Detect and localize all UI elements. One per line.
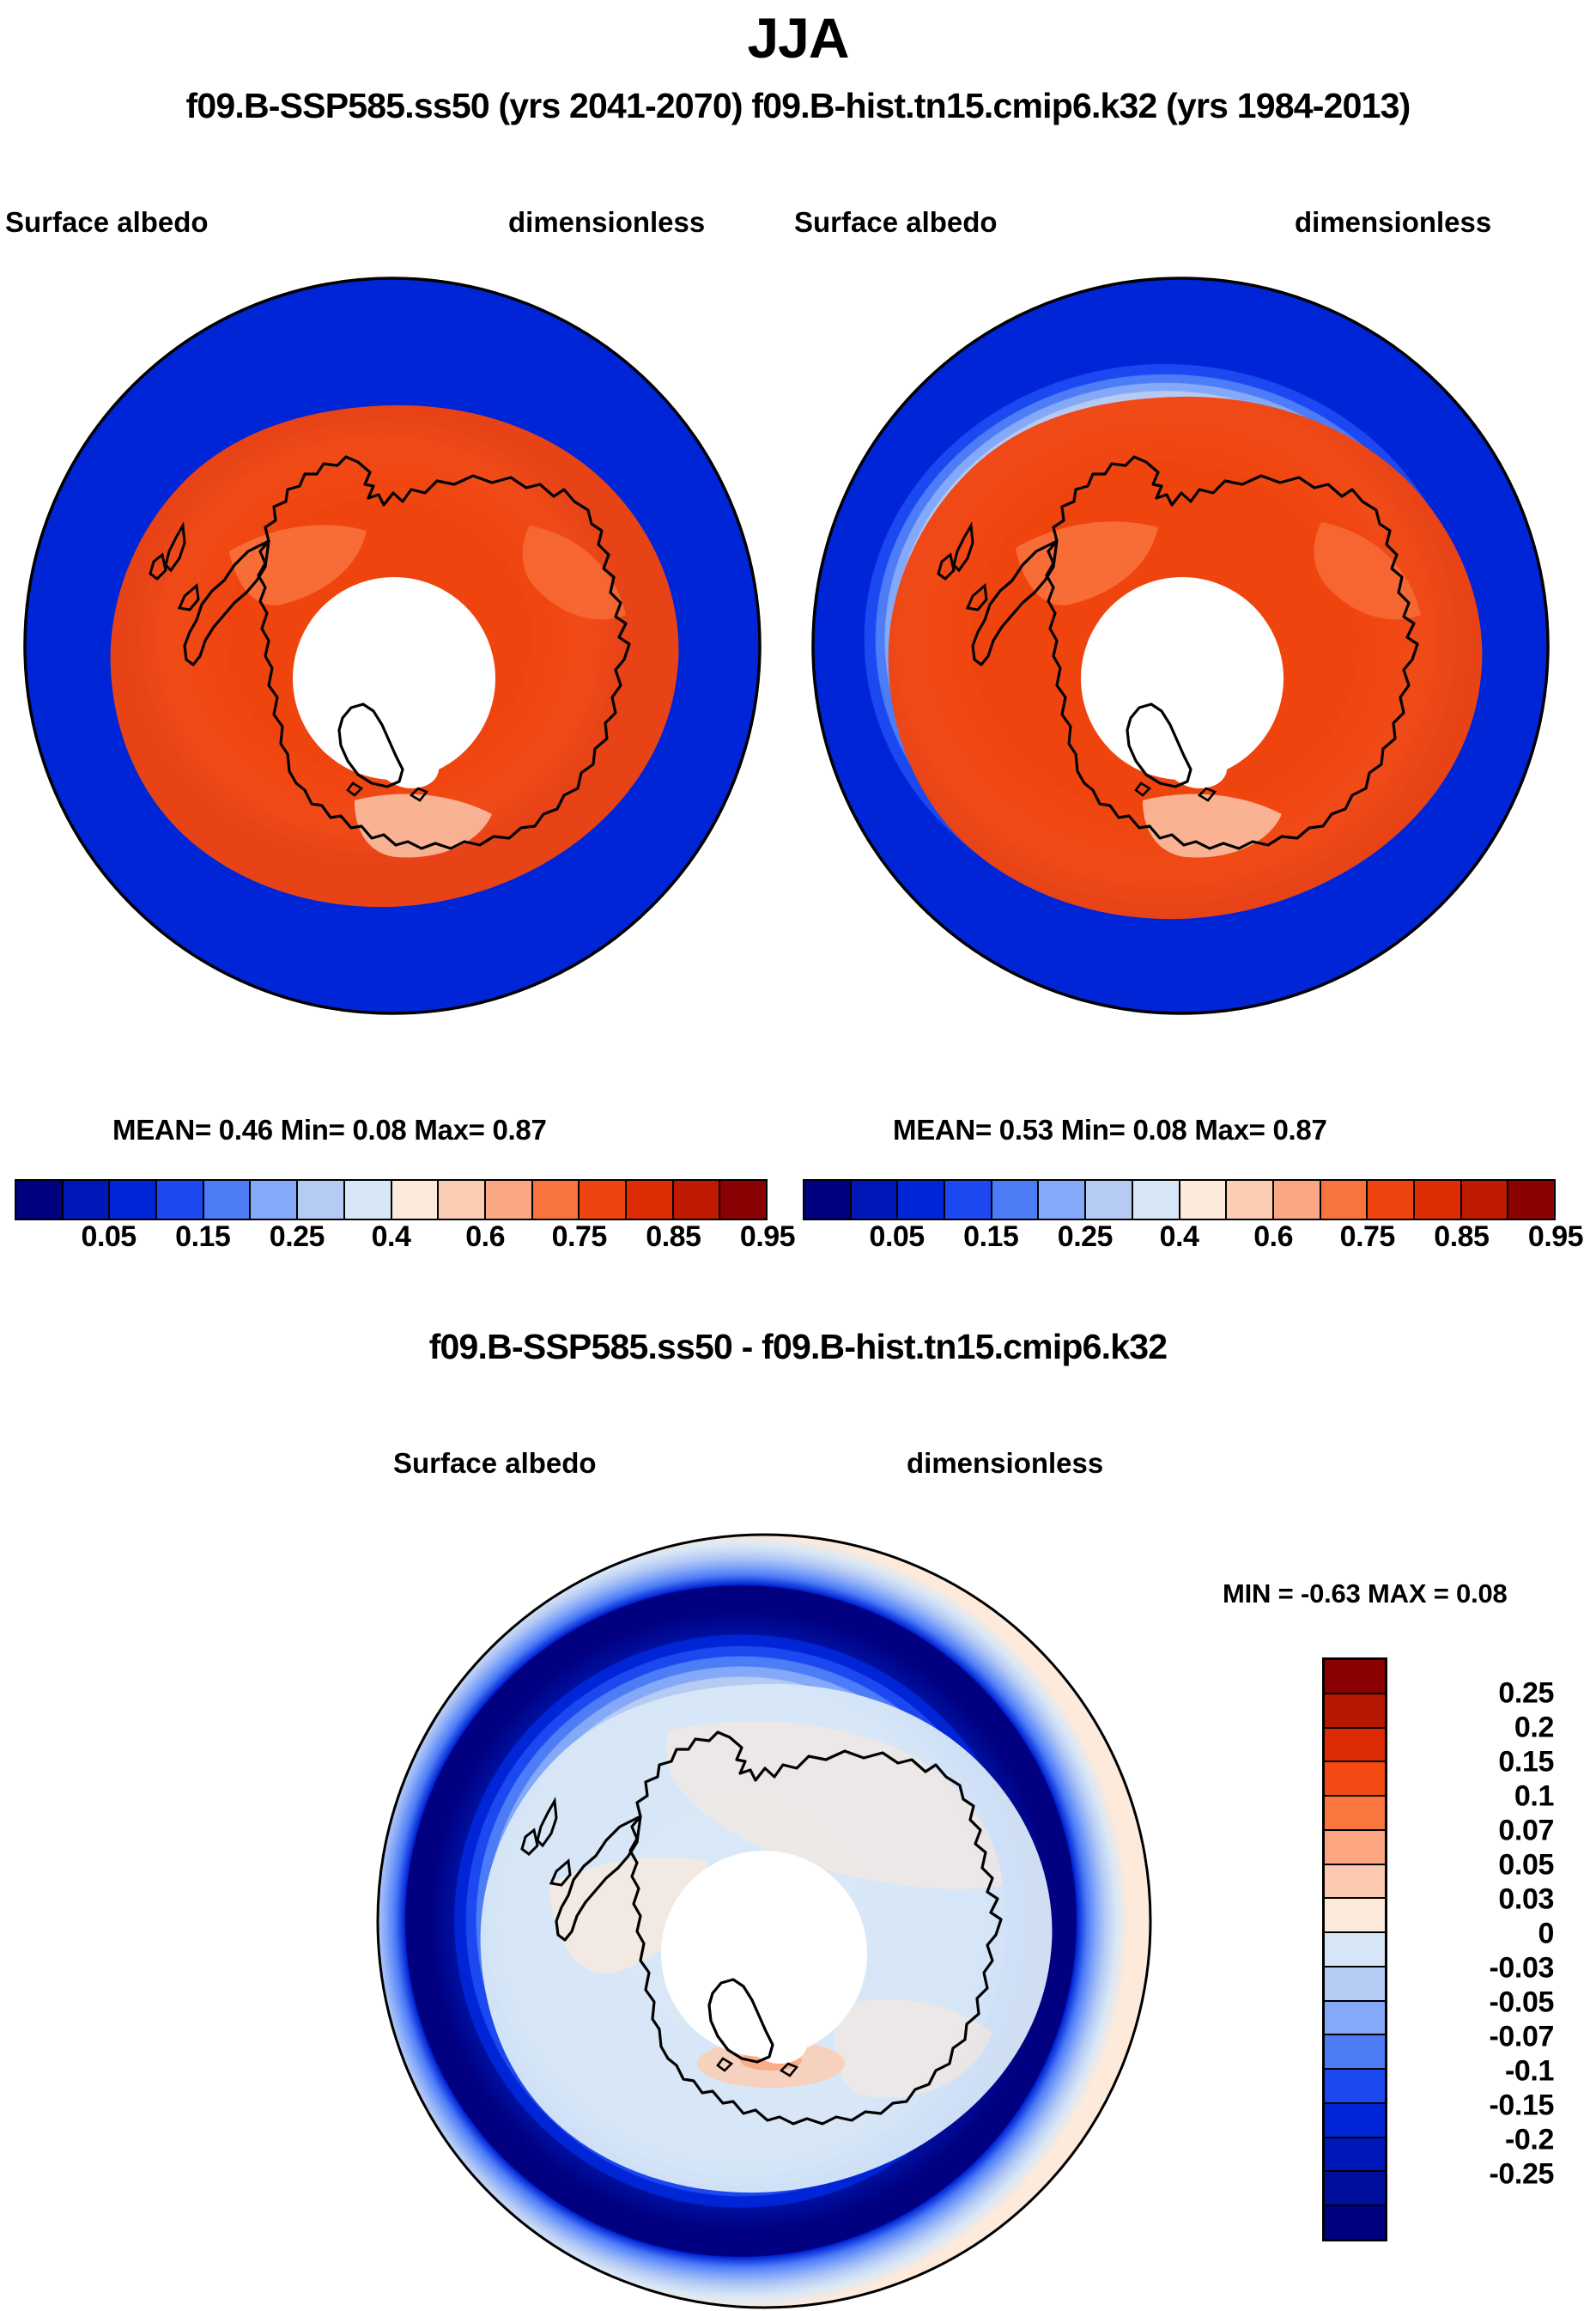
colorbar-difference-tick-6: 0.03 <box>1399 1883 1554 1917</box>
colorbar-1-tick-2: 0.25 <box>270 1220 325 1254</box>
colorbar-1-tick-6: 0.85 <box>646 1220 701 1254</box>
colorbar-difference-tick-4: 0.07 <box>1399 1815 1554 1848</box>
colorbar-difference-cell-1 <box>1325 1694 1385 1729</box>
colorbar-difference-cell-9 <box>1325 1967 1385 2002</box>
colorbar-difference-tick-10: -0.07 <box>1399 2021 1554 2054</box>
map-panel-difference[interactable] <box>361 1524 1168 2311</box>
colorbar-2-cell-4 <box>992 1181 1040 1219</box>
colorbar-2-cell-2 <box>898 1181 945 1219</box>
colorbar-2-tick-3: 0.4 <box>1160 1220 1199 1254</box>
colorbar-difference-cell-6 <box>1325 1865 1385 1900</box>
map-contour-field-ssp585 <box>15 268 770 1024</box>
colorbar-2-tick-4: 0.6 <box>1253 1220 1293 1254</box>
colorbar-1-cell-13 <box>627 1181 674 1219</box>
colorbar-2-tick-0: 0.05 <box>870 1220 925 1254</box>
colorbar-1-ticks: 0.050.150.250.40.60.750.850.95 <box>15 1220 768 1260</box>
colorbar-panel-2[interactable]: 0.050.150.250.40.60.750.850.95 <box>803 1179 1556 1260</box>
map-panel-ssp585[interactable] <box>15 268 770 1024</box>
colorbar-difference-cell-7 <box>1325 1899 1385 1933</box>
colorbar-2-cell-9 <box>1227 1181 1274 1219</box>
colorbar-1-cell-11 <box>533 1181 580 1219</box>
colorbar-2-cell-11 <box>1321 1181 1368 1219</box>
page-subtitle: f09.B-SSP585.ss50 (yrs 2041-2070) f09.B-… <box>0 86 1596 126</box>
colorbar-difference-tick-13: -0.2 <box>1399 2124 1554 2157</box>
colorbar-difference-tick-8: -0.03 <box>1399 1952 1554 1986</box>
panel-1-units-label: dimensionless <box>508 206 705 240</box>
map-contour-field-difference <box>361 1524 1168 2311</box>
colorbar-1-cell-6 <box>298 1181 345 1219</box>
map-contour-field-hist <box>803 268 1558 1024</box>
colorbar-1-cell-5 <box>251 1181 298 1219</box>
colorbar-2-tick-5: 0.75 <box>1340 1220 1395 1254</box>
panel-2-stats: MEAN= 0.53 Min= 0.08 Max= 0.87 <box>893 1114 1327 1146</box>
difference-title: f09.B-SSP585.ss50 - f09.B-hist.tn15.cmip… <box>0 1327 1596 1367</box>
colorbar-1-cell-12 <box>580 1181 627 1219</box>
colorbar-1-cell-0 <box>16 1181 64 1219</box>
colorbar-difference-cell-0 <box>1325 1660 1385 1694</box>
map-panel-hist[interactable] <box>803 268 1558 1024</box>
polar-map-ssp585 <box>15 268 770 1024</box>
polar-map-difference <box>361 1524 1168 2311</box>
colorbar-2-cell-1 <box>852 1181 899 1219</box>
colorbar-difference-swatches[interactable] <box>1322 1657 1387 2241</box>
colorbar-2-tick-1: 0.15 <box>963 1220 1018 1254</box>
colorbar-1-tick-0: 0.05 <box>82 1220 137 1254</box>
colorbar-difference-cell-13 <box>1325 2104 1385 2138</box>
colorbar-difference-cell-15 <box>1325 2172 1385 2206</box>
panel-1-stats: MEAN= 0.46 Min= 0.08 Max= 0.87 <box>112 1114 547 1146</box>
panel-2-variable-label: Surface albedo <box>794 206 998 240</box>
colorbar-difference-cell-4 <box>1325 1797 1385 1831</box>
colorbar-1-cell-15 <box>720 1181 766 1219</box>
colorbar-difference-cell-5 <box>1325 1831 1385 1865</box>
colorbar-2-cell-12 <box>1368 1181 1415 1219</box>
difference-units-label: dimensionless <box>907 1447 1103 1481</box>
colorbar-1-cell-3 <box>157 1181 204 1219</box>
panel-2-units-label: dimensionless <box>1295 206 1491 240</box>
colorbar-2-cell-13 <box>1415 1181 1462 1219</box>
colorbar-1-cell-8 <box>392 1181 440 1219</box>
page-title: JJA <box>0 5 1596 70</box>
colorbar-2-cell-8 <box>1180 1181 1228 1219</box>
colorbar-difference-cell-3 <box>1325 1762 1385 1797</box>
colorbar-difference-tick-0: 0.25 <box>1399 1677 1554 1711</box>
colorbar-1-cell-14 <box>674 1181 721 1219</box>
colorbar-2-swatches <box>803 1179 1556 1220</box>
colorbar-1-cell-1 <box>64 1181 111 1219</box>
colorbar-panel-1[interactable]: 0.050.150.250.40.60.750.850.95 <box>15 1179 768 1260</box>
colorbar-1-tick-1: 0.15 <box>175 1220 230 1254</box>
colorbar-2-cell-15 <box>1508 1181 1554 1219</box>
colorbar-1-swatches <box>15 1179 768 1220</box>
colorbar-1-tick-7: 0.95 <box>740 1220 795 1254</box>
colorbar-1-tick-3: 0.4 <box>372 1220 411 1254</box>
difference-variable-label: Surface albedo <box>393 1447 597 1481</box>
colorbar-2-tick-7: 0.95 <box>1528 1220 1583 1254</box>
colorbar-difference-tick-5: 0.05 <box>1399 1849 1554 1882</box>
colorbar-difference-tick-9: -0.05 <box>1399 1986 1554 2020</box>
colorbar-difference-tick-14: -0.25 <box>1399 2158 1554 2192</box>
colorbar-1-cell-7 <box>345 1181 392 1219</box>
colorbar-difference-cell-10 <box>1325 2002 1385 2036</box>
colorbar-difference-cell-8 <box>1325 1933 1385 1967</box>
colorbar-difference-cell-16 <box>1325 2206 1385 2239</box>
difference-minmax: MIN = -0.63 MAX = 0.08 <box>1223 1578 1508 1609</box>
colorbar-2-cell-14 <box>1462 1181 1509 1219</box>
colorbar-difference-cell-2 <box>1325 1729 1385 1763</box>
colorbar-difference-cell-12 <box>1325 2070 1385 2104</box>
polar-map-hist <box>803 268 1558 1024</box>
colorbar-difference-cell-14 <box>1325 2138 1385 2173</box>
colorbar-1-tick-5: 0.75 <box>552 1220 607 1254</box>
colorbar-1-cell-4 <box>204 1181 252 1219</box>
colorbar-difference-tick-11: -0.1 <box>1399 2055 1554 2089</box>
colorbar-1-cell-10 <box>486 1181 533 1219</box>
colorbar-2-cell-7 <box>1133 1181 1180 1219</box>
colorbar-2-tick-2: 0.25 <box>1058 1220 1113 1254</box>
colorbar-difference-cell-11 <box>1325 2035 1385 2070</box>
colorbar-2-ticks: 0.050.150.250.40.60.750.850.95 <box>803 1220 1556 1260</box>
panel-1-variable-label: Surface albedo <box>5 206 209 240</box>
colorbar-1-cell-2 <box>110 1181 157 1219</box>
colorbar-1-cell-9 <box>439 1181 486 1219</box>
colorbar-difference-tick-7: 0 <box>1399 1918 1554 1951</box>
colorbar-2-cell-10 <box>1274 1181 1321 1219</box>
colorbar-2-tick-6: 0.85 <box>1434 1220 1489 1254</box>
colorbar-difference-tick-1: 0.2 <box>1399 1712 1554 1745</box>
colorbar-2-cell-0 <box>804 1181 852 1219</box>
colorbar-difference-tick-2: 0.15 <box>1399 1746 1554 1779</box>
colorbar-1-tick-4: 0.6 <box>465 1220 505 1254</box>
colorbar-difference-tick-12: -0.15 <box>1399 2089 1554 2123</box>
colorbar-difference-tick-3: 0.1 <box>1399 1780 1554 1814</box>
colorbar-2-cell-6 <box>1086 1181 1133 1219</box>
colorbar-difference-ticks: 0.250.20.150.10.070.050.030-0.03-0.05-0.… <box>1399 1657 1554 2241</box>
colorbar-2-cell-3 <box>945 1181 992 1219</box>
colorbar-2-cell-5 <box>1039 1181 1086 1219</box>
